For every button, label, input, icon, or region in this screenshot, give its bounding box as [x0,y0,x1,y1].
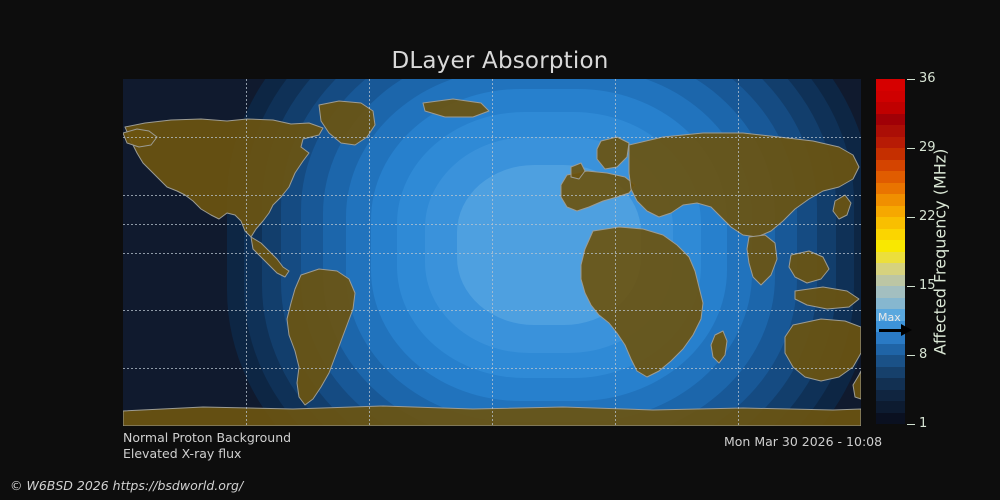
colorbar-segment [876,91,905,103]
colorbar-segment [876,252,905,264]
colorbar-segment [876,229,905,241]
colorbar-segment [876,194,905,206]
max-arrow-shaft [879,329,903,332]
gridline-longitude [246,79,247,426]
gridline-longitude [492,79,493,426]
colorbar-segment [876,114,905,126]
colorbar-segment [876,240,905,252]
colorbar-tick-mark [907,424,915,425]
colorbar-tick-mark [907,286,915,287]
colorbar-segment [876,378,905,390]
colorbar-segment [876,183,905,195]
colorbar-segment [876,298,905,310]
colorbar-segment [876,286,905,298]
colorbar-segment [876,413,905,425]
colorbar-segment [876,401,905,413]
page-title: DLayer Absorption [0,48,1000,74]
colorbar-segment [876,263,905,275]
colorbar-segment [876,355,905,367]
status-xray-flux: Elevated X-ray flux [123,446,241,461]
max-marker-label: Max [878,311,901,324]
colorbar-segment [876,160,905,172]
max-arrow-head [901,324,912,336]
colorbar-segment [876,137,905,149]
colorbar-segment [876,367,905,379]
colorbar-segment [876,275,905,287]
colorbar-segment [876,148,905,160]
colorbar-tick-mark [907,355,915,356]
colorbar-max-marker: Max [877,311,917,339]
colorbar-tick-mark [907,217,915,218]
colorbar-segment [876,390,905,402]
gridline-longitude [738,79,739,426]
colorbar-segment [876,125,905,137]
timestamp: Mon Mar 30 2026 - 10:08 [724,434,882,449]
copyright-notice: © W6BSD 2026 https://bsdworld.org/ [10,478,243,493]
colorbar-segment [876,344,905,356]
colorbar [876,79,905,424]
colorbar-segment [876,102,905,114]
gridline-longitude [369,79,370,426]
colorbar-segment [876,171,905,183]
colorbar-segment [876,217,905,229]
chart-canvas: DLayer Absorption [0,0,1000,500]
colorbar-tick-mark [907,148,915,149]
world-map [123,79,861,426]
colorbar-axis-title: Affected Frequency (MHz) [925,79,955,424]
colorbar-tick-mark [907,79,915,80]
gridline-longitude [615,79,616,426]
status-proton-background: Normal Proton Background [123,430,291,445]
colorbar-segment [876,206,905,218]
colorbar-segment [876,79,905,91]
